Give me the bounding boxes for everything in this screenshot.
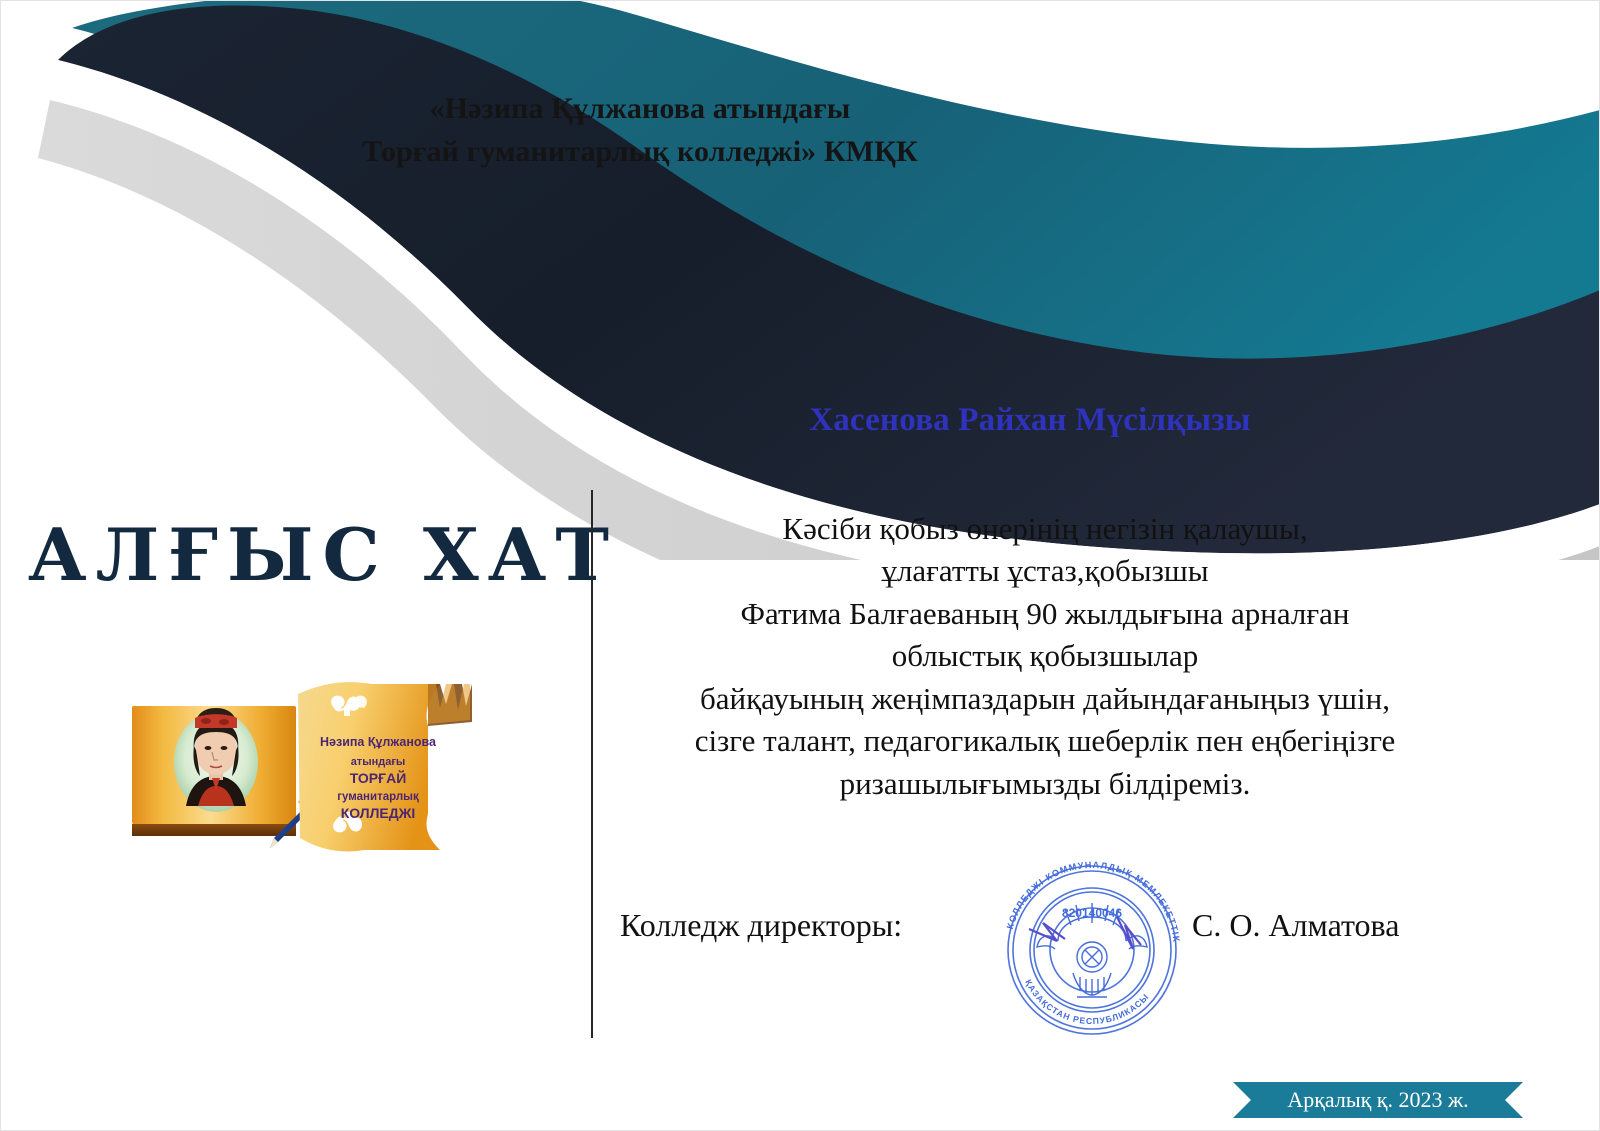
body-line-2: ұлағатты ұстаз,қобызшы [595, 550, 1495, 592]
certificate-page: «Нәзипа Құлжанова атындағы Торғай гумани… [0, 0, 1600, 1131]
logo-text-line-1: Нәзипа Құлжанова [320, 735, 437, 749]
org-title-line-2: Торғай гуманитарлық колледжі» КМҚК [330, 131, 950, 174]
body-line-3: Фатима Балғаеваның 90 жылдығына арналған [595, 593, 1495, 635]
body-line-1: Кәсіби қобыз өнерінің негізін қалаушы, [595, 508, 1495, 550]
college-logo: Нәзипа Құлжанова атындағы ТОРҒАЙ гуманит… [128, 666, 473, 856]
body-line-4: облыстық қобызшылар [595, 635, 1495, 677]
footer-ribbon-label: Арқалық қ. 2023 ж. [1233, 1082, 1523, 1118]
signature-label: Колледж директоры: [620, 907, 902, 944]
org-title-line-1: «Нәзипа Құлжанова атындағы [330, 88, 950, 131]
page-title: АЛҒЫС ХАТ [28, 512, 573, 597]
stamp-emblem [1037, 903, 1147, 997]
recipient-name: Хасенова Райхан Мүсілқызы [700, 402, 1360, 439]
body-line-6: сізге талант, педагогикалық шеберлік пен… [595, 720, 1495, 762]
body-line-5: байқауының жеңімпаздарын дайындағаныңыз … [595, 678, 1495, 720]
logo-text-line-2: атындағы [351, 756, 406, 768]
logo-scroll-right: Нәзипа Құлжанова атындағы ТОРҒАЙ гуманит… [298, 682, 472, 851]
official-stamp: КОЛЛЕДЖІ КОММУНАЛДЫҚ МЕМЛЕКЕТТІК ҚАЗАҚСТ… [985, 845, 1200, 1050]
logo-portrait [186, 708, 246, 806]
logo-text-line-3: ТОРҒАЙ [350, 769, 407, 786]
organization-title: «Нәзипа Құлжанова атындағы Торғай гумани… [330, 88, 950, 173]
decorative-wave-header [0, 0, 1600, 560]
logo-text-line-4: гуманитарлық [337, 791, 419, 803]
logo-book-left [132, 706, 320, 848]
body-line-7: ризашылығымызды білдіреміз. [595, 763, 1495, 805]
logo-text-line-5: КОЛЛЕДЖІ [341, 805, 416, 821]
signature-name: С. О. Алматова [1192, 907, 1399, 944]
body-text: Кәсіби қобыз өнерінің негізін қалаушы, ұ… [595, 508, 1495, 805]
vertical-divider [591, 490, 593, 1038]
